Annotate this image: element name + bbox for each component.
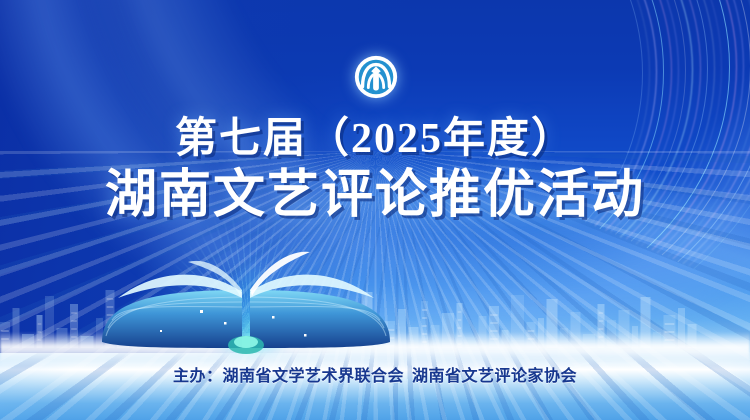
organizer-line: 主办：湖南省文学艺术界联合会湖南省文艺评论家协会 xyxy=(0,362,750,386)
poster-canvas: 第七届（2025年度） 湖南文艺评论推优活动 主办：湖南省文学艺术界联合会湖南省… xyxy=(0,0,750,420)
organizer-name-2: 湖南省文艺评论家协会 xyxy=(412,368,577,385)
organizer-name-1: 湖南省文学艺术界联合会 xyxy=(222,368,404,385)
open-book-illustration xyxy=(96,250,396,358)
organization-logo-icon xyxy=(352,52,400,102)
organizer-prefix: 主办： xyxy=(173,368,223,385)
